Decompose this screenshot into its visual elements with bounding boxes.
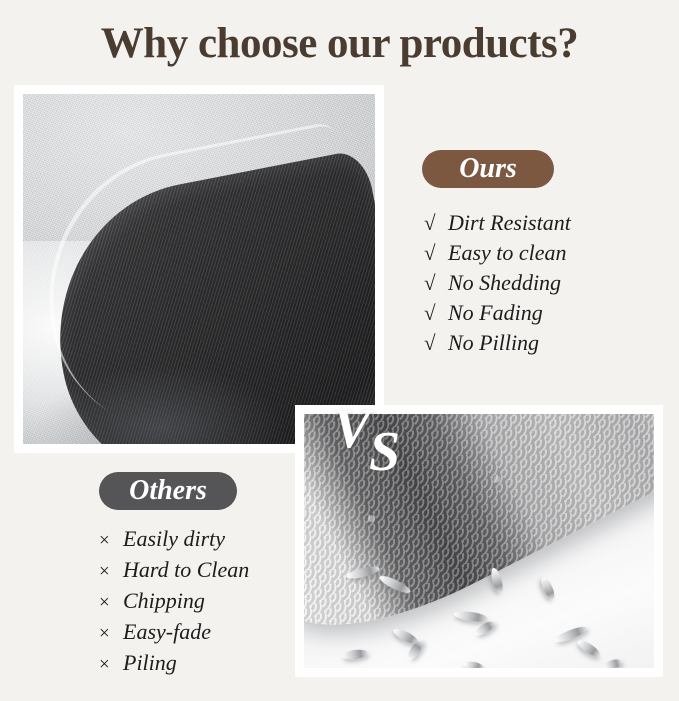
list-item: √ No Shedding — [424, 268, 571, 298]
shed-fiber — [463, 660, 484, 668]
check-icon: √ — [424, 239, 448, 268]
shed-fiber — [576, 637, 603, 659]
page-title: Why choose our products? — [0, 18, 679, 70]
list-item: √ No Pilling — [424, 328, 571, 358]
shed-fiber — [603, 657, 623, 668]
list-item-label: Easy to clean — [448, 238, 567, 267]
list-item: √ No Fading — [424, 298, 571, 328]
others-badge: Others — [99, 472, 237, 510]
cross-icon: × — [99, 650, 123, 679]
list-item-label: Easy-fade — [123, 617, 211, 646]
list-item-label: Chipping — [123, 586, 205, 615]
check-icon: √ — [424, 209, 448, 238]
check-icon: √ — [424, 269, 448, 298]
list-item-label: Piling — [123, 648, 177, 677]
cross-icon: × — [99, 526, 123, 555]
list-item-label: Easily dirty — [123, 524, 225, 553]
ours-feature-list: √ Dirt Resistant √ Easy to clean √ No Sh… — [424, 208, 571, 358]
cross-icon: × — [99, 588, 123, 617]
cross-icon: × — [99, 619, 123, 648]
infographic-page: Why choose our products? — [0, 0, 679, 701]
list-item: √ Dirt Resistant — [424, 208, 571, 238]
versus-letter-s: S — [369, 424, 400, 480]
shed-fiber — [454, 610, 489, 624]
shed-fiber — [489, 567, 505, 594]
cross-icon: × — [99, 557, 123, 586]
list-item: × Hard to Clean — [99, 555, 249, 586]
check-icon: √ — [424, 299, 448, 328]
list-item: × Chipping — [99, 586, 249, 617]
list-item: × Piling — [99, 648, 249, 679]
list-item-label: No Pilling — [448, 328, 539, 357]
product-mat-photo — [14, 85, 384, 453]
shed-fiber — [342, 648, 369, 661]
list-item-label: Hard to Clean — [123, 555, 249, 584]
product-mat-photo-inner — [23, 94, 375, 444]
list-item-label: No Shedding — [448, 268, 561, 297]
list-item: × Easily dirty — [99, 524, 249, 555]
list-item: √ Easy to clean — [424, 238, 571, 268]
list-item-label: No Fading — [448, 298, 543, 327]
ours-badge: Ours — [422, 150, 554, 188]
others-feature-list: × Easily dirty × Hard to Clean × Chippin… — [99, 524, 249, 679]
versus-letter-v: V — [333, 401, 370, 457]
shed-fiber — [539, 576, 557, 602]
shed-fiber — [473, 619, 496, 638]
list-item-label: Dirt Resistant — [448, 208, 571, 237]
check-icon: √ — [424, 329, 448, 358]
list-item: × Easy-fade — [99, 617, 249, 648]
mat-drop-shadow — [37, 367, 283, 444]
